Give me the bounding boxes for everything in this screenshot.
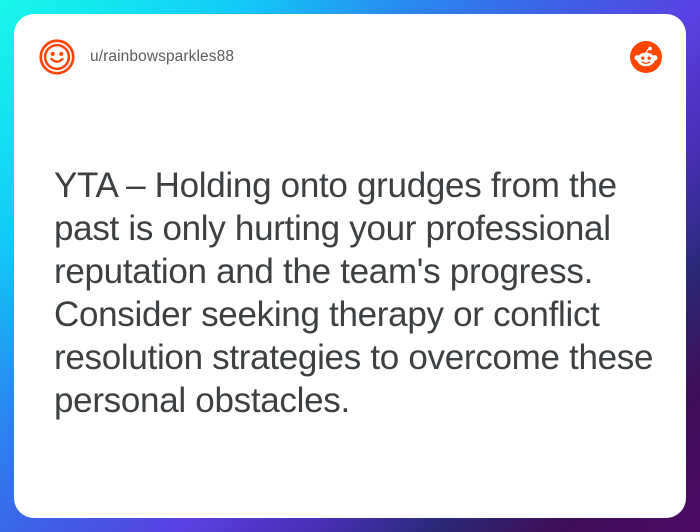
card-header: u/rainbowsparkles88	[14, 14, 686, 100]
avatar[interactable]	[38, 38, 76, 76]
smiley-face-avatar-icon	[38, 38, 76, 76]
post-body-text: YTA – Holding onto grudges from the past…	[54, 164, 654, 422]
reddit-brand-logo[interactable]	[630, 41, 662, 73]
screenshot-canvas: u/rainbowsparkles88 YTA – Holding onto g…	[0, 0, 700, 532]
reddit-snoo-logo-icon	[630, 41, 662, 73]
reddit-comment-card: u/rainbowsparkles88 YTA – Holding onto g…	[14, 14, 686, 518]
username-label: u/rainbowsparkles88	[90, 48, 234, 66]
